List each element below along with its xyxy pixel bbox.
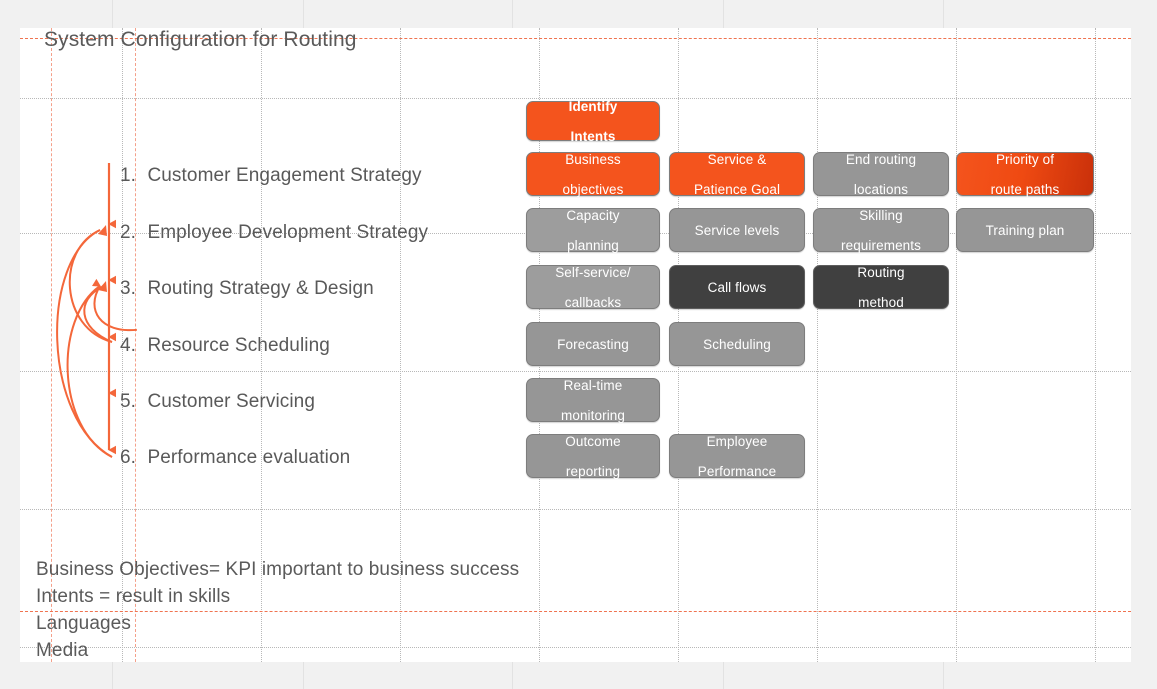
box-line-2: locations [842,182,920,197]
box-end-routing-locations[interactable]: End routing locations [813,152,949,196]
note-line-3[interactable]: Languages [36,613,131,635]
step-number: 2. [120,222,136,243]
grid-line-vertical [817,28,818,662]
step-label: Customer Engagement Strategy [147,165,421,186]
box-line-2: objectives [558,182,627,197]
grid-line-horizontal [20,647,1131,648]
grid-line-horizontal [20,509,1131,510]
step-label: Customer Servicing [147,391,315,412]
step-number: 5. [120,391,136,412]
box-line-2: Intents [565,129,622,144]
box-line-1: Training plan [982,223,1069,238]
feedback-arc-4-to-2 [70,230,112,342]
feedback-arc-6-to-2 [57,230,112,457]
step-item-5[interactable]: 5. Customer Servicing [120,391,315,413]
box-priority-of-route-paths[interactable]: Priority of route paths [956,152,1094,196]
box-forecasting[interactable]: Forecasting [526,322,660,366]
box-training-plan[interactable]: Training plan [956,208,1094,252]
step-label: Performance evaluation [147,447,350,468]
step-number: 3. [120,278,136,299]
box-line-1: Capacity [562,208,623,223]
box-line-1: Outcome [561,434,624,449]
step-number: 4. [120,335,136,356]
step-number: 1. [120,165,136,186]
arc-arrowhead-to-step-3 [98,281,107,292]
box-line-2: Patience Goal [690,182,784,197]
box-line-1: Business [558,152,627,167]
step-label: Resource Scheduling [147,335,330,356]
step-item-1[interactable]: 1. Customer Engagement Strategy [120,165,422,187]
box-line-2: method [853,295,908,310]
box-line-2: route paths [987,182,1064,197]
note-line-4[interactable]: Media [36,640,88,662]
box-line-1: Self-service/ [551,265,635,280]
box-service-patience-goal[interactable]: Service & Patience Goal [669,152,805,196]
box-call-flows[interactable]: Call flows [669,265,805,309]
note-line-2[interactable]: Intents = result in skills [36,586,230,608]
box-line-1: Scheduling [699,337,775,352]
box-line-2: requirements [837,238,925,253]
box-line-1: Real-time [557,378,629,393]
step-label: Routing Strategy & Design [147,278,373,299]
step-number: 6. [120,447,136,468]
box-service-levels[interactable]: Service levels [669,208,805,252]
step-item-3[interactable]: 3. Routing Strategy & Design [120,278,374,300]
note-line-1[interactable]: Business Objectives= KPI important to bu… [36,559,519,581]
box-line-1: End routing [842,152,920,167]
grid-line-vertical [1095,28,1096,662]
box-business-objectives[interactable]: Business objectives [526,152,660,196]
box-scheduling[interactable]: Scheduling [669,322,805,366]
feedback-arc-4-to-3-line [84,287,112,342]
arc-arrowhead-to-step-2 [98,225,107,236]
box-line-1: Employee [694,434,780,449]
box-line-1: Routing [853,265,908,280]
box-line-1: Identify [565,99,622,114]
smart-guide-horizontal [20,611,1131,612]
box-line-2: planning [562,238,623,253]
step-item-6[interactable]: 6. Performance evaluation [120,447,350,469]
slide-editor-stage: System Configuration for Routing 1. Cust… [0,0,1157,689]
box-line-1: Service & [690,152,784,167]
box-line-1: Priority of [987,152,1064,167]
box-line-2: Performance [694,464,780,479]
box-line-2: monitoring [557,408,629,423]
box-outcome-reporting[interactable]: Outcome reporting [526,434,660,478]
grid-line-horizontal [20,371,1131,372]
box-line-2: reporting [561,464,624,479]
box-line-1: Call flows [704,280,771,295]
box-line-1: Forecasting [553,337,633,352]
box-identify-intents[interactable]: Identify Intents [526,101,660,141]
box-self-service-callbacks[interactable]: Self-service/ callbacks [526,265,660,309]
box-line-1: Skilling [837,208,925,223]
box-employee-performance[interactable]: Employee Performance [669,434,805,478]
box-line-1: Service levels [691,223,784,238]
step-label: Employee Development Strategy [147,222,428,243]
box-capacity-planning[interactable]: Capacity planning [526,208,660,252]
box-routing-method[interactable]: Routing method [813,265,949,309]
box-skilling-requirements[interactable]: Skilling requirements [813,208,949,252]
slide-canvas[interactable]: System Configuration for Routing 1. Cust… [20,28,1131,662]
page-title[interactable]: System Configuration for Routing [44,28,357,52]
step-item-4[interactable]: 4. Resource Scheduling [120,335,330,357]
box-real-time-monitoring[interactable]: Real-time monitoring [526,378,660,422]
step-item-2[interactable]: 2. Employee Development Strategy [120,222,428,244]
box-line-2: callbacks [551,295,635,310]
grid-line-vertical [956,28,957,662]
